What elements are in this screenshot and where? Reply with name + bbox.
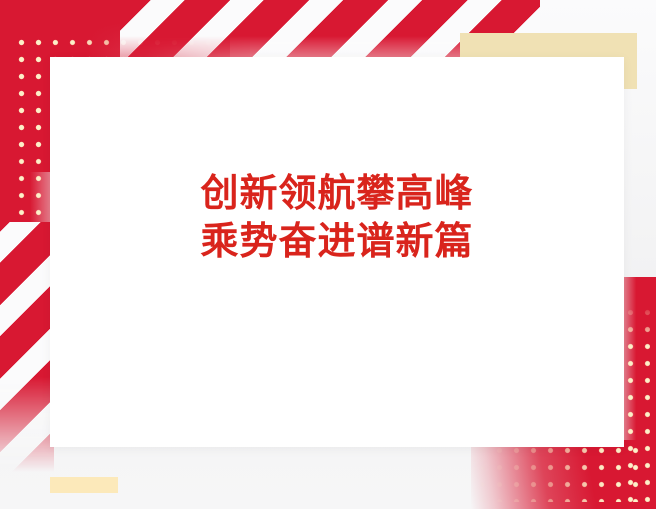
corner-bracket-horizontal-icon (460, 33, 637, 58)
poster-canvas: 创新领航攀高峰 乘势奋进谱新篇 (0, 0, 656, 509)
right-dot-grid-icon (620, 302, 650, 502)
headline-line-2: 乘势奋进谱新篇 (50, 217, 624, 265)
headline-block: 创新领航攀高峰 乘势奋进谱新篇 (50, 169, 624, 265)
corner-bracket-vertical-icon (624, 33, 637, 89)
content-card: 创新领航攀高峰 乘势奋进谱新篇 (50, 57, 624, 447)
left-diagonal-stripes-icon (0, 222, 54, 472)
headline-line-1: 创新领航攀高峰 (50, 169, 624, 217)
accent-bar-icon (50, 477, 118, 493)
